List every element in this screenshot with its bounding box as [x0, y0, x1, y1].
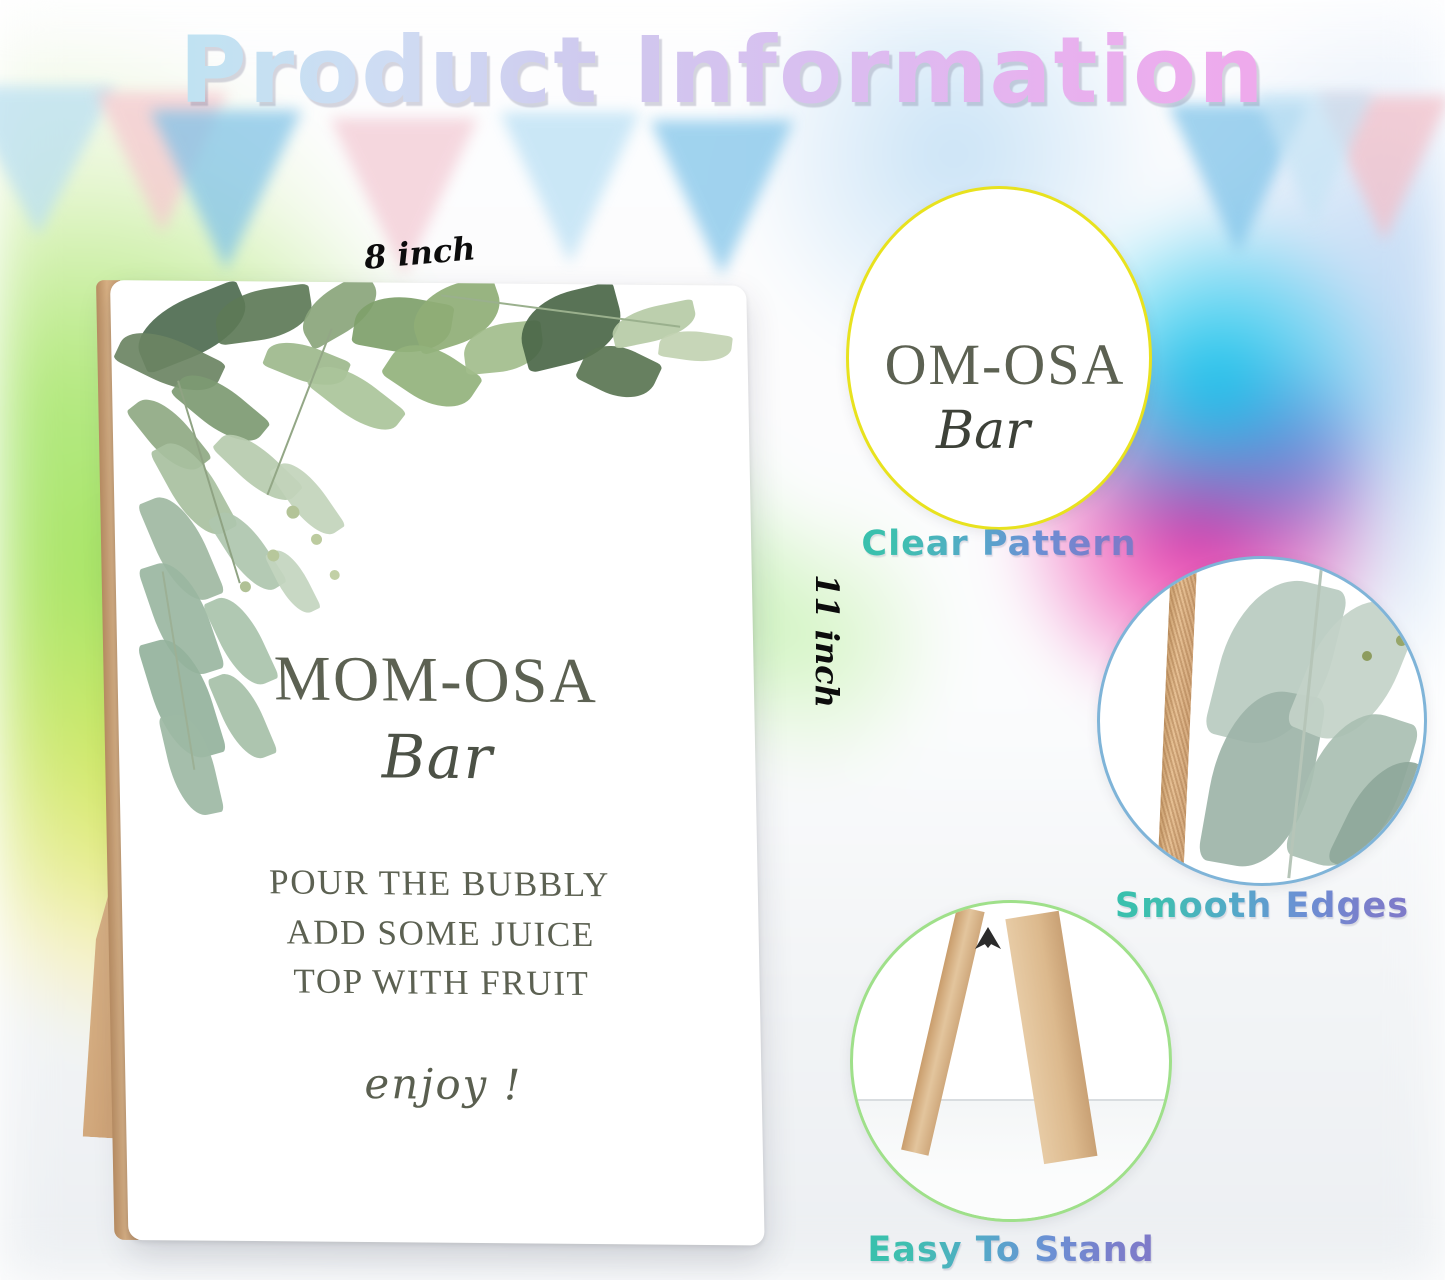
sign-instruction-line: POUR THE BUBBLY — [155, 856, 724, 911]
leaf — [512, 281, 631, 373]
magnified-headline: OM-OSA — [846, 331, 1152, 398]
seed-bud — [330, 570, 340, 580]
leaf — [211, 283, 316, 345]
pennant-flag — [150, 110, 302, 270]
sign-subhead: Bar — [152, 720, 722, 795]
easy-to-stand-magnifier — [850, 900, 1172, 1222]
seed-bud — [267, 549, 279, 561]
stem — [267, 328, 333, 495]
leaf — [126, 388, 213, 482]
leaf — [262, 331, 351, 396]
leaf — [113, 318, 227, 406]
cork-edge-detail — [1157, 556, 1198, 886]
seed-bud — [240, 581, 251, 592]
leaf — [170, 361, 271, 455]
leaf — [658, 326, 733, 366]
leaf — [306, 353, 407, 444]
height-dimension-label: 11 inch — [808, 574, 846, 708]
stem — [177, 380, 241, 583]
leaf — [461, 320, 546, 375]
product-sign: MOM-OSA Bar POUR THE BUBBLY ADD SOME JUI… — [96, 280, 765, 1245]
sign-instructions: POUR THE BUBBLY ADD SOME JUICE TOP WITH … — [155, 856, 726, 1010]
smooth-edges-magnifier — [1097, 556, 1427, 886]
leaf — [269, 454, 346, 544]
stem — [441, 294, 680, 327]
seed-bud — [311, 534, 322, 545]
clear-pattern-magnifier: OM-OSA Bar — [846, 186, 1152, 530]
pennant-flag — [500, 112, 640, 264]
seed-bud — [1362, 651, 1372, 661]
leaf — [608, 299, 700, 349]
leaf — [207, 503, 287, 600]
leaf — [127, 280, 258, 374]
seed-bud — [286, 506, 299, 519]
magnified-subhead: Bar — [846, 401, 1152, 461]
leaf — [351, 288, 455, 361]
leaf — [137, 488, 225, 610]
sign-instruction-line: TOP WITH FRUIT — [157, 956, 726, 1011]
sign-closing: enjoy ! — [159, 1057, 728, 1111]
seed-bud — [1396, 635, 1407, 646]
sign-instruction-line: ADD SOME JUICE — [156, 906, 725, 961]
leaf — [380, 329, 483, 423]
product-information-infographic: Product Information 8 inch 11 inch — [0, 0, 1445, 1280]
leaf — [264, 544, 321, 619]
sign-headline: MOM-OSA — [151, 640, 721, 719]
leaf — [575, 333, 663, 411]
leaf — [291, 280, 387, 350]
page-title: Product Information — [0, 22, 1445, 120]
table-surface — [853, 1099, 1169, 1222]
leaf — [149, 433, 238, 546]
feature-label-clear-pattern: Clear Pattern — [846, 524, 1152, 564]
pennant-flag — [650, 120, 794, 276]
sign-copy: MOM-OSA Bar POUR THE BUBBLY ADD SOME JUI… — [117, 640, 762, 1112]
feature-label-easy-to-stand: Easy To Stand — [850, 1230, 1172, 1270]
sign-board: MOM-OSA Bar POUR THE BUBBLY ADD SOME JUI… — [110, 280, 765, 1245]
leaf — [212, 422, 304, 512]
feature-label-smooth-edges: Smooth Edges — [1097, 886, 1427, 926]
leaf — [404, 280, 510, 355]
seed-bud — [1378, 593, 1390, 605]
